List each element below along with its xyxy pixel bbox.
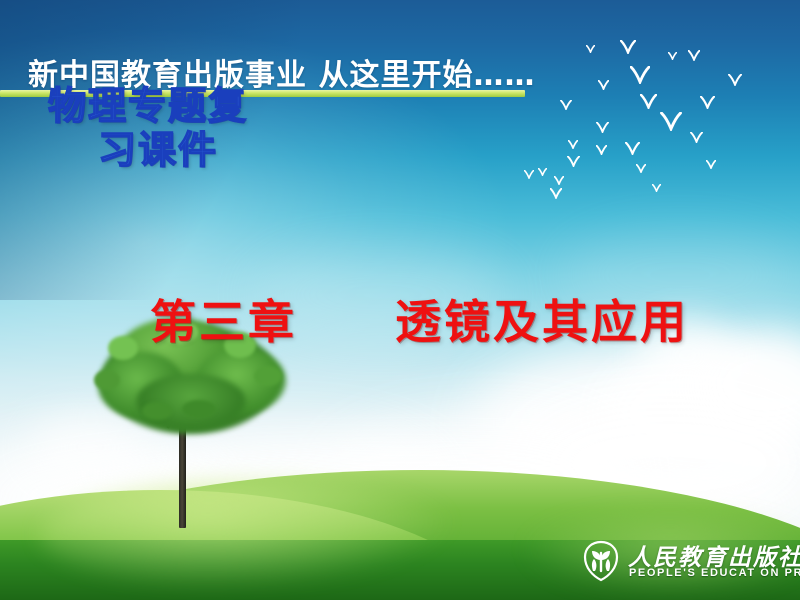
- sprout-emblem-icon: [582, 540, 620, 582]
- presentation-slide: 新中国教育出版事业 从这里开始…… 物理专题复 习课件 第三章 透镜及其应用 人…: [0, 0, 800, 600]
- course-subtitle-line1: 物理专题复: [40, 84, 340, 128]
- publisher-logo: 人民教育出版社 PEOPLE'S EDUCAT ON PRESS: [582, 538, 794, 590]
- page-title: 第三章 透镜及其应用: [150, 286, 689, 352]
- publisher-name-en: PEOPLE'S EDUCAT ON PRESS: [629, 567, 800, 579]
- course-subtitle: 物理专题复 习课件: [40, 84, 340, 172]
- course-subtitle-line2: 习课件: [40, 128, 340, 172]
